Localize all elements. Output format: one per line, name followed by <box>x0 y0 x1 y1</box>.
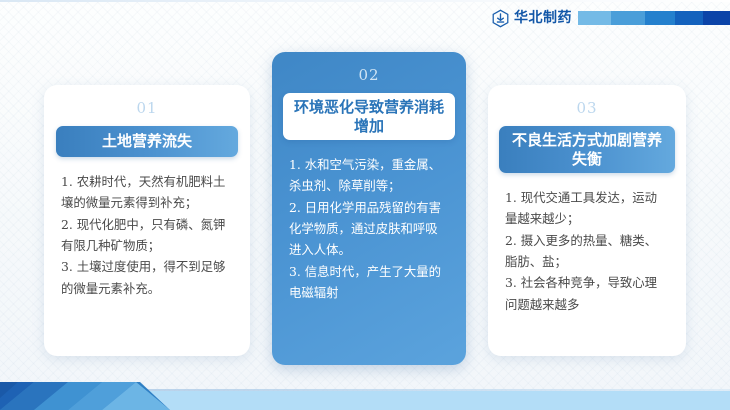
header-gradient-bar <box>578 11 730 25</box>
header-bar-segment-3 <box>645 11 675 25</box>
card-2-line-2: 2. 日用化学用品残留的有害化学物质，通过皮肤和呼吸进入人体。 <box>289 197 449 261</box>
hexagon-shield-logo-icon <box>491 9 510 28</box>
content-card-3[interactable]: 03 不良生活方式加剧营养失衡 1. 现代交通工具发达，运动量越来越少； 2. … <box>488 85 686 356</box>
card-3-line-1: 1. 现代交通工具发达，运动量越来越少； <box>505 187 669 230</box>
card-1-line-2: 2. 现代化肥中，只有磷、氮钾有限几种矿物质； <box>61 214 233 257</box>
card-body-1: 1. 农耕时代，天然有机肥料土壤的微量元素得到补充； 2. 现代化肥中，只有磷、… <box>61 171 233 299</box>
card-1-line-3: 3. 土壤过度使用，得不到足够的微量元素补充。 <box>61 256 233 299</box>
header-bar-segment-4 <box>675 11 702 25</box>
card-number-3: 03 <box>488 99 686 117</box>
header-bar-segment-5 <box>703 11 730 25</box>
card-number-1: 01 <box>44 99 250 117</box>
card-title-2: 环境恶化导致营养消耗增加 <box>283 93 455 140</box>
top-hairline <box>0 0 730 2</box>
card-body-3: 1. 现代交通工具发达，运动量越来越少； 2. 摄入更多的热量、糖类、脂肪、盐；… <box>505 187 669 315</box>
card-2-line-1: 1. 水和空气污染，重金属、杀虫剂、除草削等； <box>289 154 449 197</box>
card-title-3: 不良生活方式加剧营养失衡 <box>499 126 675 173</box>
content-card-1[interactable]: 01 土地营养流失 1. 农耕时代，天然有机肥料土壤的微量元素得到补充； 2. … <box>44 85 250 356</box>
header-bar-segment-2 <box>611 11 644 25</box>
card-2-line-3: 3. 信息时代，产生了大量的电磁辐射 <box>289 261 449 304</box>
header: 华北制药 <box>491 6 730 30</box>
header-bar-segment-1 <box>578 11 611 25</box>
card-number-2: 02 <box>272 66 466 84</box>
bottom-left-ribbon <box>0 382 170 410</box>
card-body-2: 1. 水和空气污染，重金属、杀虫剂、除草削等； 2. 日用化学用品残留的有害化学… <box>289 154 449 303</box>
card-3-line-3: 3. 社会各种竞争，导致心理问题越来越多 <box>505 272 669 315</box>
brand-logo: 华北制药 <box>491 9 572 28</box>
brand-name: 华北制药 <box>514 11 572 25</box>
card-1-line-1: 1. 农耕时代，天然有机肥料土壤的微量元素得到补充； <box>61 171 233 214</box>
content-card-2[interactable]: 02 环境恶化导致营养消耗增加 1. 水和空气污染，重金属、杀虫剂、除草削等； … <box>272 52 466 365</box>
slide-canvas: 华北制药 01 土地营养流失 1. 农耕时代，天然有机肥料土壤的微量元素得到补充… <box>0 0 730 410</box>
card-3-line-2: 2. 摄入更多的热量、糖类、脂肪、盐； <box>505 230 669 273</box>
card-title-1: 土地营养流失 <box>56 126 238 157</box>
